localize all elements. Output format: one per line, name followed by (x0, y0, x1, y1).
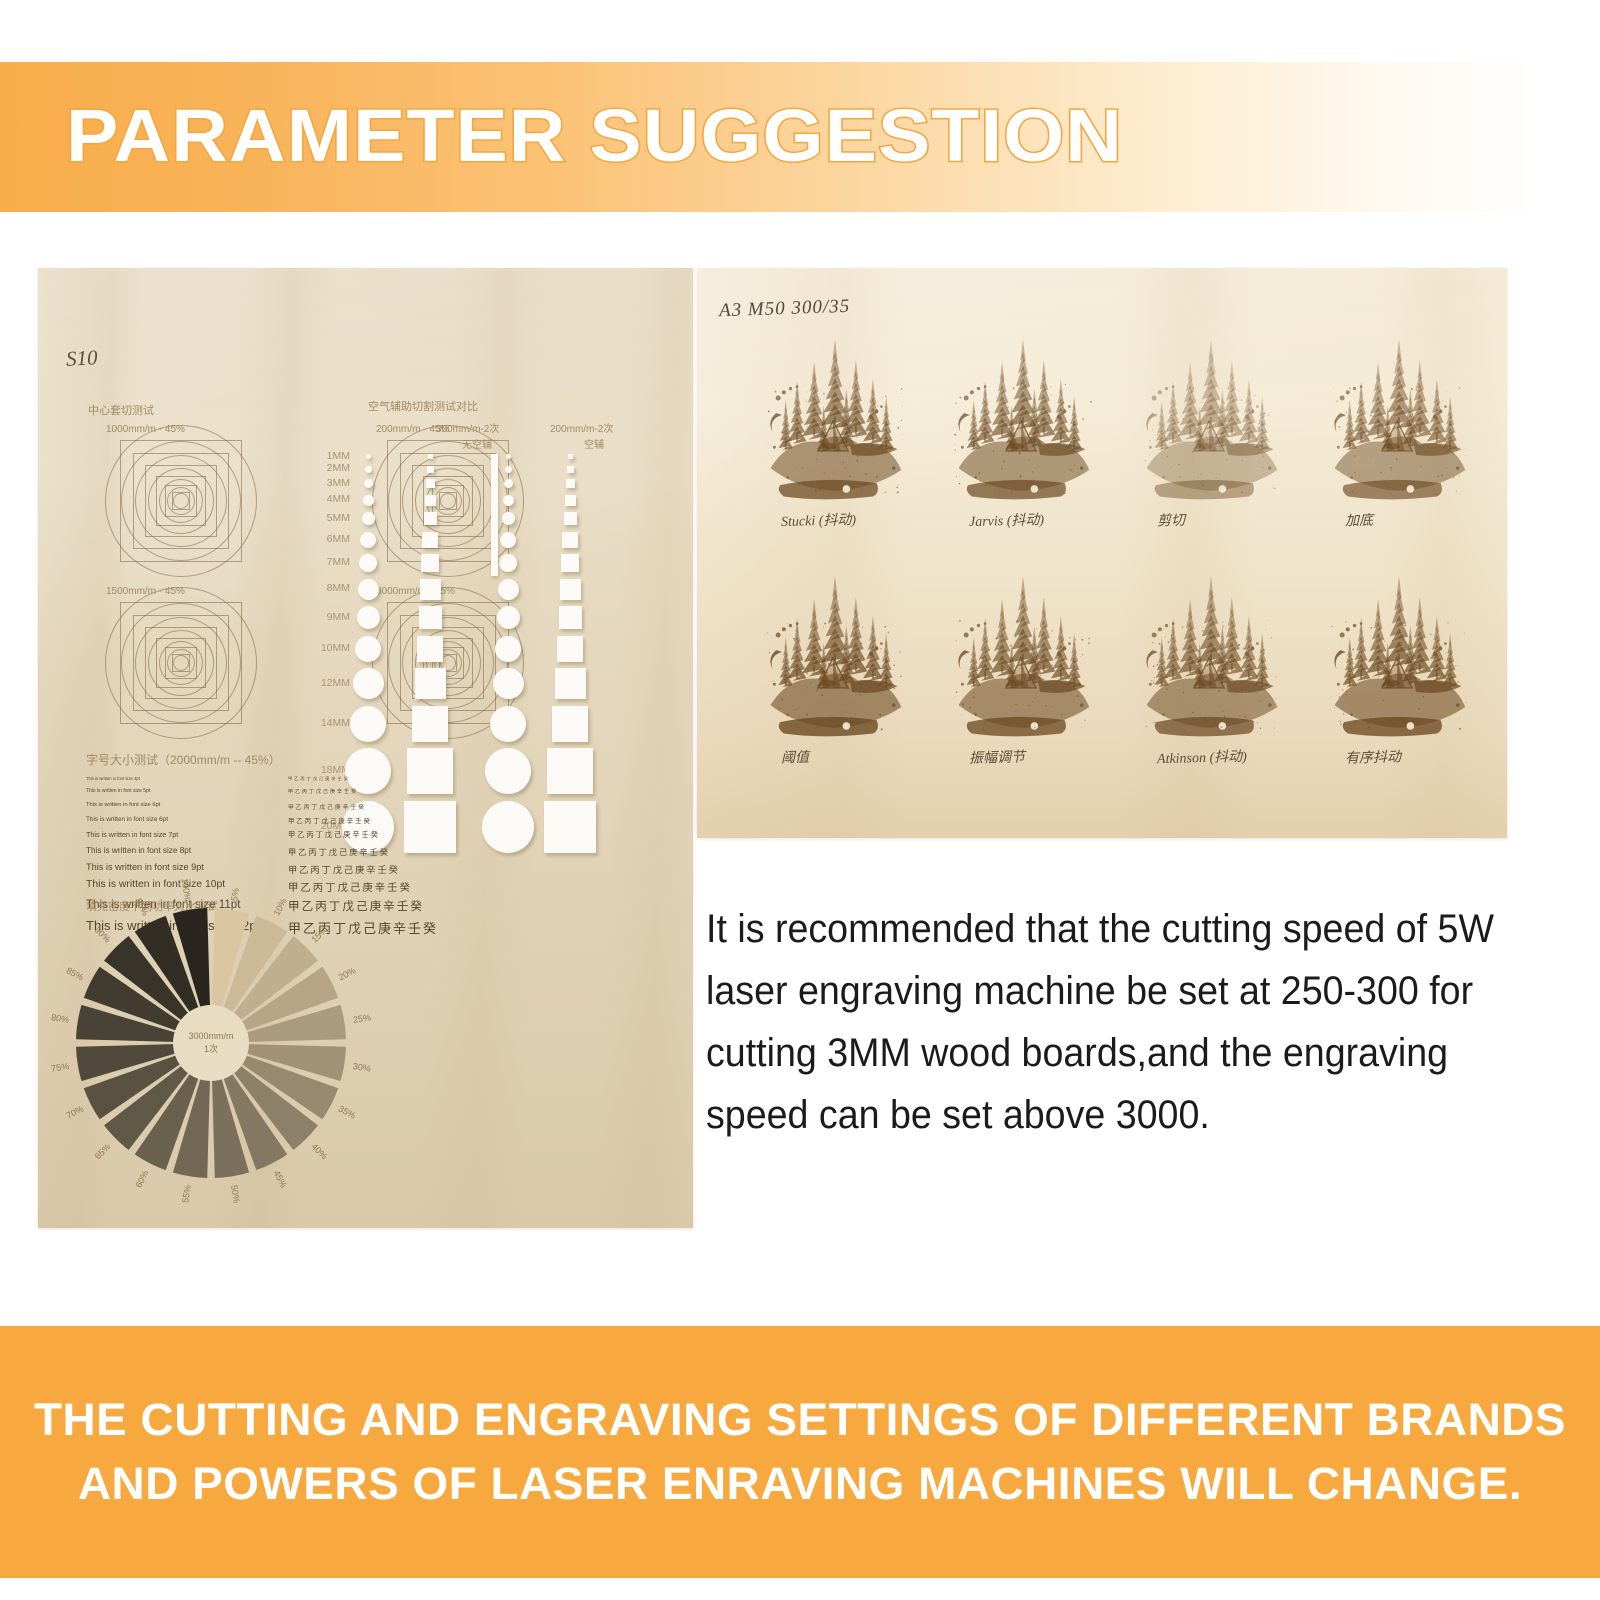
power-percentage-wheel: 3000mm/m 1次 5%10%15%20%25%30%35%40%45%50… (76, 908, 346, 1178)
artwork-caption: 振幅调节 (969, 746, 1026, 767)
wheel-percent-label: 25% (352, 1013, 371, 1026)
cut-circle (359, 554, 377, 572)
cut-circle (506, 454, 511, 459)
cut-circle (490, 706, 526, 742)
cut-square (407, 748, 453, 794)
air-assist-col1-assist: 空辅 (584, 436, 604, 451)
cut-circle (362, 512, 375, 525)
wheel-percent-label: 80% (50, 1013, 69, 1026)
cut-circle (345, 748, 391, 794)
wheel-percent-label: 50% (229, 1184, 242, 1203)
font-test-line-cjk: 甲乙丙丁戊己庚辛壬癸 (288, 776, 350, 782)
recommendation-paragraph: It is recommended that the cutting speed… (706, 898, 1505, 1146)
cut-size-label: 14MM (308, 717, 350, 729)
cut-square (422, 532, 438, 548)
font-test-line-cjk: 甲乙丙丁戊己庚辛壬癸 (288, 846, 390, 858)
font-test-heading: 字号大小测试（2000mm/m -- 45%） (86, 751, 281, 768)
font-test-line-en: This is written in font size 8pt (86, 846, 191, 855)
right-test-board: A3 M50 300/35 Stucki (抖动)Jarvis (抖动)剪切加底… (697, 268, 1507, 838)
cut-square (417, 636, 443, 662)
cut-circle (505, 466, 512, 473)
cut-square (424, 512, 437, 525)
cut-circle (366, 454, 371, 459)
cut-circle (353, 668, 384, 699)
target-label-3: 3000mm/m - 45% (376, 586, 455, 597)
cut-square (557, 636, 583, 662)
cut-square (559, 606, 582, 629)
cut-circle (363, 495, 374, 506)
target-square (172, 492, 190, 510)
target-square (172, 654, 190, 672)
camp-scene-artwork (1135, 326, 1287, 506)
cut-square (421, 554, 439, 572)
cut-size-label: 9MM (308, 611, 350, 623)
cut-size-label: 4MM (308, 493, 350, 505)
cut-square (419, 606, 442, 629)
wheel-percent-label: 55% (181, 1184, 194, 1203)
font-test-line-cjk: 甲乙丙丁戊己庚辛壬癸 (288, 862, 400, 876)
camp-scene-artwork (947, 563, 1099, 743)
target-square (439, 492, 457, 510)
cut-circle (358, 579, 379, 600)
camp-scene-artwork (947, 326, 1099, 506)
cut-square (568, 454, 573, 459)
cut-circle (499, 554, 517, 572)
artwork-caption: Atkinson (抖动) (1157, 746, 1247, 768)
cut-square (567, 466, 574, 473)
font-test-line-en: This is written in font size 6pt (86, 802, 160, 808)
cut-circle (498, 579, 519, 600)
air-assist-col0-speed: 300mm/m-2次 (436, 420, 499, 435)
cut-size-label: 6MM (308, 533, 350, 545)
cut-square (564, 512, 577, 525)
cut-square (428, 454, 433, 459)
cut-square (555, 668, 586, 699)
cut-square (552, 706, 588, 742)
cut-square (420, 579, 441, 600)
cut-circle (495, 636, 521, 662)
artwork-tile (947, 563, 1099, 743)
cut-size-label: 1MM (308, 450, 350, 462)
cut-circle (504, 479, 513, 488)
air-assist-col1-speed: 200mm/m-2次 (550, 420, 613, 435)
artwork-caption: 阈值 (781, 747, 810, 768)
cut-square (560, 579, 581, 600)
font-test-line-cjk: 甲乙丙丁戊己庚辛壬癸 (288, 879, 412, 894)
cut-size-label: 5MM (308, 512, 350, 524)
font-test-line-en: This is written in font size 10pt (86, 879, 225, 890)
cut-circle (503, 495, 514, 506)
camp-scene-artwork (1135, 563, 1287, 743)
font-test-line-cjk: 甲乙丙丁戊己庚辛壬癸 (288, 830, 380, 840)
cut-size-label: 2MM (308, 462, 350, 474)
artwork-caption: Stucki (抖动) (781, 509, 857, 531)
wheel-percent-label: 75% (50, 1061, 69, 1074)
cut-circle (500, 532, 516, 548)
camp-scene-artwork (759, 326, 911, 506)
font-test-line-cjk: 甲乙丙丁戊己庚辛壬癸 (288, 788, 358, 795)
cut-circle (365, 466, 372, 473)
wheel-percent-label: 5% (229, 887, 241, 901)
cut-square (566, 479, 575, 488)
target-label-2: 1500mm/m - 45% (106, 586, 185, 597)
wheel-percent-label: 30% (352, 1061, 371, 1074)
camp-scene-artwork (1323, 563, 1475, 743)
wheel-hub-speed: 3000mm/m (188, 1030, 233, 1043)
cut-square (404, 801, 456, 853)
artwork-caption: Jarvis (抖动) (969, 509, 1045, 531)
artwork-tile (1135, 563, 1287, 743)
right-board-hand-note: A3 M50 300/35 (719, 296, 851, 323)
artwork-tile (1323, 326, 1475, 506)
artwork-tile (759, 563, 911, 743)
font-test-line-en: This is written in font size 5pt (86, 788, 150, 794)
cut-circle (357, 606, 380, 629)
cut-size-label: 7MM (308, 556, 350, 568)
cut-circle (493, 668, 524, 699)
cut-square (544, 801, 596, 853)
font-test-line-en: This is written in font size 4pt (86, 776, 140, 781)
cut-square (547, 748, 593, 794)
target-label-0: 1000mm/m - 45% (106, 424, 185, 435)
cut-size-label: 18MM (308, 764, 350, 776)
air-assist-col0-assist: 无空辅 (462, 436, 492, 451)
left-test-board: S10 中心套切测试 1000mm/m - 45% 200mm/m - 45% … (38, 268, 693, 1228)
target-group-0 (56, 416, 306, 586)
artwork-tile (1323, 563, 1475, 743)
wheel-hub: 3000mm/m 1次 (173, 1005, 249, 1081)
cut-size-label: 10MM (308, 642, 350, 654)
artwork-caption: 加底 (1345, 510, 1374, 531)
left-board-hand-note: S10 (65, 345, 98, 372)
artwork-tile (759, 326, 911, 506)
font-test-line-cjk: 甲乙丙丁戊己庚辛壬癸 (288, 816, 372, 825)
cut-square (562, 532, 578, 548)
font-test-line-en: This is written in font size 6pt (86, 816, 168, 823)
air-assist-heading: 空气辅助切割测试对比 (368, 398, 478, 414)
artwork-tile (1135, 326, 1287, 506)
artwork-caption: 剪切 (1157, 510, 1186, 531)
cut-circle (482, 801, 534, 853)
target-group-2 (56, 578, 306, 748)
cut-circle (355, 636, 381, 662)
cut-circle (360, 532, 376, 548)
font-test-line-cjk: 甲乙丙丁戊己庚辛壬癸 (288, 802, 366, 811)
cut-size-label: 8MM (308, 582, 350, 594)
cut-circle (497, 606, 520, 629)
cut-square (565, 495, 576, 506)
divider-strip (491, 454, 498, 576)
artwork-caption: 有序抖动 (1345, 746, 1402, 767)
cut-circle (364, 479, 373, 488)
cut-square (561, 554, 579, 572)
cut-square (427, 466, 434, 473)
cut-size-label: 12MM (308, 677, 350, 689)
font-test-line-en: This is written in font size 7pt (86, 830, 178, 839)
camp-scene-artwork (759, 563, 911, 743)
footer-text: THE CUTTING AND ENGRAVING SETTINGS OF DI… (25, 1388, 1575, 1516)
artwork-tile (947, 326, 1099, 506)
font-test-line-en: This is written in font size 9pt (86, 862, 204, 872)
page-title: PARAMETER SUGGESTION (66, 84, 1123, 188)
cut-square (425, 495, 436, 506)
cut-square (426, 479, 435, 488)
cut-circle (502, 512, 515, 525)
camp-scene-artwork (1323, 326, 1475, 506)
footer-banner: THE CUTTING AND ENGRAVING SETTINGS OF DI… (0, 1326, 1600, 1578)
cut-circle (350, 706, 386, 742)
cut-size-label: 3MM (308, 477, 350, 489)
cut-square (415, 668, 446, 699)
cut-square (412, 706, 448, 742)
infographic-page: PARAMETER SUGGESTION S10 中心套切测试 1000mm/m… (0, 0, 1600, 1600)
wheel-hub-passes: 1次 (204, 1043, 218, 1056)
cut-circle (485, 748, 531, 794)
